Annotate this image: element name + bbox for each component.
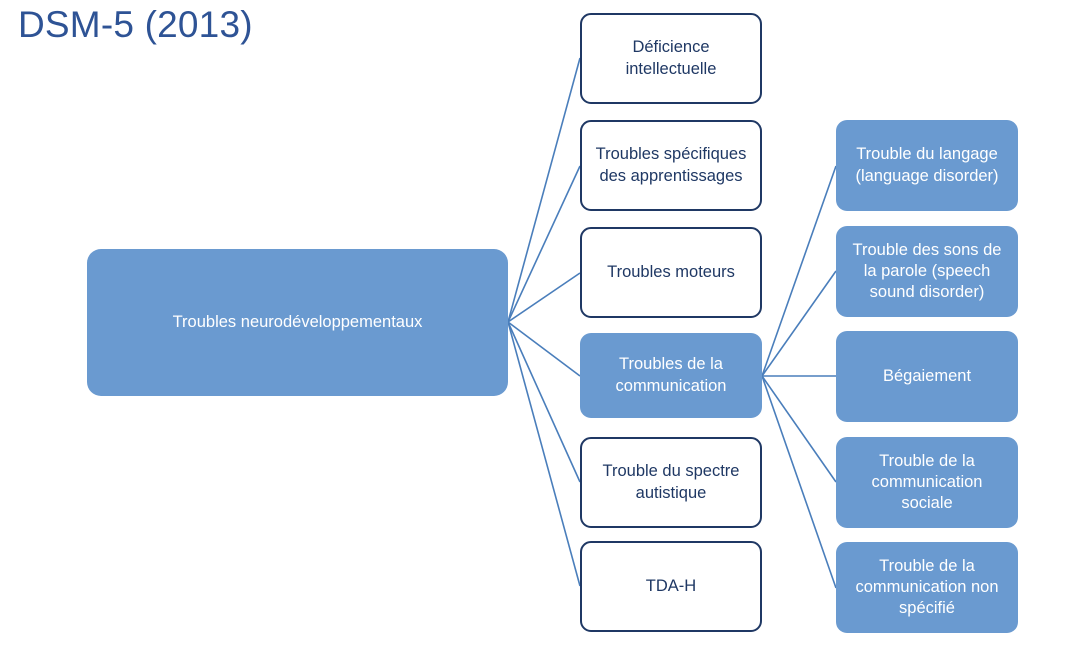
node-trouble-spectre-autistique[interactable]: Trouble du spectre autistique xyxy=(580,437,762,528)
node-trouble-communication-non-specifie[interactable]: Trouble de la communication non spécifié xyxy=(836,542,1018,633)
node-label: TDA-H xyxy=(638,576,704,597)
node-label: Troubles moteurs xyxy=(599,262,743,283)
node-label: Trouble du langage (language disorder) xyxy=(847,144,1006,186)
slide-canvas: DSM-5 (2013) Troubles neurodéveloppement… xyxy=(0,0,1070,656)
node-deficience-intellectuelle[interactable]: Déficience intellectuelle xyxy=(580,13,762,104)
node-label: Trouble des sons de la parole (speech so… xyxy=(845,240,1010,303)
node-root-label: Troubles neurodéveloppementaux xyxy=(165,312,431,333)
node-label: Troubles de la communication xyxy=(608,354,735,396)
node-label: Bégaiement xyxy=(875,366,979,387)
node-tda-h[interactable]: TDA-H xyxy=(580,541,762,632)
node-label: Déficience intellectuelle xyxy=(618,37,725,79)
node-trouble-communication-sociale[interactable]: Trouble de la communication sociale xyxy=(836,437,1018,528)
node-label: Troubles spécifiques des apprentissages xyxy=(588,144,755,186)
node-trouble-du-langage[interactable]: Trouble du langage (language disorder) xyxy=(836,120,1018,211)
node-begaiement[interactable]: Bégaiement xyxy=(836,331,1018,422)
node-troubles-specifiques-apprentissages[interactable]: Troubles spécifiques des apprentissages xyxy=(580,120,762,211)
node-label: Trouble de la communication sociale xyxy=(864,451,991,514)
node-trouble-sons-parole[interactable]: Trouble des sons de la parole (speech so… xyxy=(836,226,1018,317)
node-troubles-de-la-communication[interactable]: Troubles de la communication xyxy=(580,333,762,418)
node-root[interactable]: Troubles neurodéveloppementaux xyxy=(87,249,508,396)
node-label: Trouble de la communication non spécifié xyxy=(847,556,1006,619)
node-troubles-moteurs[interactable]: Troubles moteurs xyxy=(580,227,762,318)
node-label: Trouble du spectre autistique xyxy=(595,461,748,503)
page-title: DSM-5 (2013) xyxy=(18,4,253,46)
